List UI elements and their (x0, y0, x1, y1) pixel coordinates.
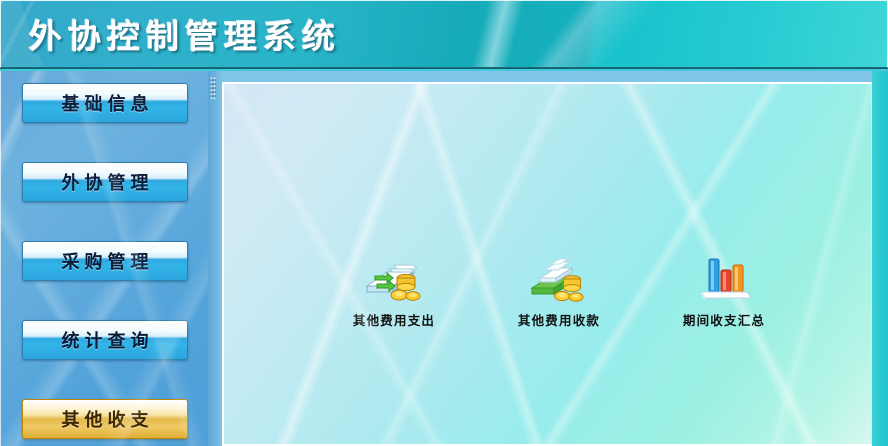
book-coins-icon (528, 252, 590, 304)
sidebar-item-label: 采购管理 (57, 248, 154, 274)
application-window: 外协控制管理系统 基础信息 外协管理 采购管理 统计查询 (0, 0, 888, 446)
bar-chart-icon (693, 252, 755, 304)
sidebar-item-label: 外协管理 (57, 169, 154, 195)
sidebar-item-label: 其他收支 (57, 406, 154, 432)
icon-item-other-receipt[interactable]: 其他费用收款 (489, 252, 629, 329)
sidebar: 基础信息 外协管理 采购管理 统计查询 其他收支 (0, 71, 208, 446)
sidebar-nav: 基础信息 外协管理 采购管理 统计查询 其他收支 (1, 71, 209, 439)
sidebar-item-outsourcing[interactable]: 外协管理 (22, 162, 188, 202)
sidebar-item-statistics[interactable]: 统计查询 (22, 320, 188, 360)
sidebar-splitter[interactable] (208, 71, 222, 446)
sidebar-item-label: 基础信息 (57, 90, 154, 116)
icon-label: 期间收支汇总 (683, 310, 765, 329)
app-header: 外协控制管理系统 (0, 0, 888, 68)
sidebar-item-purchasing[interactable]: 采购管理 (22, 241, 188, 281)
app-body: 基础信息 外协管理 采购管理 统计查询 其他收支 (0, 71, 888, 446)
main-content-panel: 其他费用支出 (222, 82, 872, 446)
ledger-green-arrows-coins-icon (363, 252, 425, 304)
icon-label: 其他费用支出 (353, 310, 435, 329)
icon-label: 其他费用收款 (518, 310, 600, 329)
icon-item-period-summary[interactable]: 期间收支汇总 (654, 252, 794, 329)
sidebar-item-basic-info[interactable]: 基础信息 (22, 83, 188, 123)
sidebar-item-label: 统计查询 (57, 327, 154, 353)
sidebar-item-other-income[interactable]: 其他收支 (22, 399, 188, 439)
icon-item-other-expense[interactable]: 其他费用支出 (324, 252, 464, 329)
right-edge-strip (872, 71, 888, 446)
icon-grid: 其他费用支出 (324, 252, 794, 329)
page-title: 外协控制管理系统 (29, 10, 341, 58)
splitter-grip-icon[interactable] (210, 77, 216, 99)
